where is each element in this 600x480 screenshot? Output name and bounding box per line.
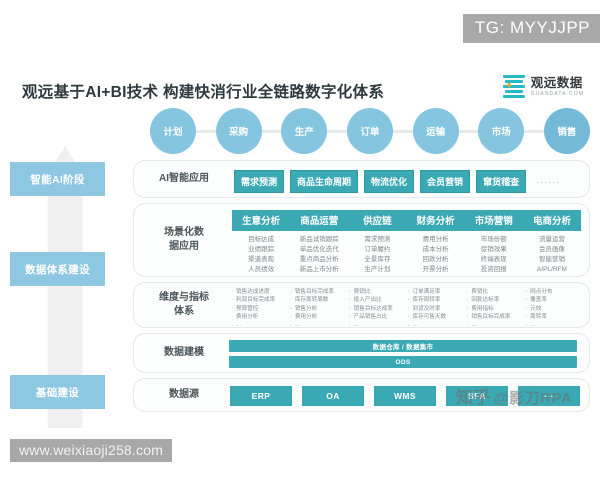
list-item: 库存可售天数 (406, 313, 465, 321)
list-item: 开票分析 (407, 265, 465, 275)
page-title: 观远基于AI+BI技术 构建快消行业全链路数字化体系 (22, 80, 384, 102)
ai-tag-demand-forecast[interactable]: 需求预测 (234, 170, 284, 193)
list-item: 新品上市分析 (290, 265, 348, 275)
panel-metrics-system: 维度与指标 体系 销售达成进度 利润目标完成率 预算管控 费用分析 ··· 销售… (133, 282, 590, 328)
scenario-head-supplychain[interactable]: 供应链 (348, 210, 406, 231)
list-item: 需求预测 (348, 235, 406, 245)
infographic-slide: TG: MYYJJPP 观远基于AI+BI技术 构建快消行业全链路数字化体系 观… (0, 0, 600, 480)
list-item: 回款分析 (407, 255, 465, 265)
scenario-column-list: 生意分析 目标达成 业绩跟踪 渠道表现 人员绩效 商品运营 新品试销跟踪 单品优… (232, 210, 581, 291)
stage-label-infrastructure[interactable]: 基础建设 (10, 375, 105, 409)
metrics-column-list: 销售达成进度 利润目标完成率 预算管控 费用分析 ··· 销售目标完成率 库存周… (230, 288, 583, 330)
panel-label-ai: AI智能应用 (148, 172, 220, 186)
panel-label-metrics: 维度与指标 体系 (148, 291, 220, 319)
scenario-head-marketing[interactable]: 市场营销 (465, 210, 523, 231)
list-item: 销售目标完成率 (465, 313, 524, 321)
scenario-items-supplychain: 需求预测 订单履约 全景库存 生产计划 (348, 235, 406, 275)
scenario-items-ecommerce: 流量运营 会员画像 智能营销 AIPL/RFM (523, 235, 581, 275)
list-item: 订单满足率 (406, 288, 465, 296)
stage-label-data-system[interactable]: 数据体系建设 (10, 252, 105, 286)
panel-label-scenario-line2: 据应用 (148, 240, 220, 254)
list-item: 周转率 (524, 313, 583, 321)
list-item: 费用分析 (230, 313, 289, 321)
list-item: 渠道表现 (232, 255, 290, 265)
panel-label-source: 数据源 (148, 388, 220, 402)
modeling-bar-warehouse[interactable]: 数据仓库 / 数据集市 (229, 340, 577, 352)
scenario-column-finance: 财务分析 费用分析 成本分析 回款分析 开票分析 (407, 210, 465, 291)
list-item: 单品优化迭代 (290, 245, 348, 255)
panel-label-metrics-line1: 维度与指标 (148, 291, 220, 305)
ai-tag-list: 需求预测 商品生命周期 物流优化 会员营销 窜货稽查 ······ (234, 170, 560, 193)
metrics-column-3: 费销比 投入产出比 销售目标达成率 产品销售占比 ··· (348, 288, 407, 330)
ai-tag-more-ellipsis: ······ (532, 177, 560, 187)
process-flow: 计划 采购 生产 订单 运输 市场 销售 (150, 108, 590, 154)
flow-node-transport[interactable]: 运输 (413, 108, 459, 154)
modeling-bar-list: 数据仓库 / 数据集市 ODS (229, 340, 577, 368)
scenario-items-business: 目标达成 业绩跟踪 渠道表现 人员绩效 (232, 235, 290, 275)
flow-node-market[interactable]: 市场 (478, 108, 524, 154)
list-item: 产品销售占比 (348, 313, 407, 321)
list-item: 覆盖率 (524, 296, 583, 304)
source-tag-oa[interactable]: OA (302, 386, 364, 406)
scenario-column-supplychain: 供应链 需求预测 订单履约 全景库存 生产计划 (348, 210, 406, 291)
list-item: 元效 (524, 305, 583, 313)
modeling-bar-ods[interactable]: ODS (229, 356, 577, 368)
watermark-website: www.weixiaoji258.com (10, 439, 172, 462)
ai-tag-product-lifecycle[interactable]: 商品生命周期 (290, 170, 358, 193)
source-tag-erp[interactable]: ERP (230, 386, 292, 406)
scenario-column-business: 生意分析 目标达成 业绩跟踪 渠道表现 人员绩效 (232, 210, 290, 291)
logo-name-cn: 观远数据 (531, 77, 584, 90)
flow-node-purchase[interactable]: 采购 (216, 108, 262, 154)
list-item: 利润目标完成率 (230, 296, 289, 304)
list-item: ··· (230, 322, 289, 330)
list-item: 重点商品分析 (290, 255, 348, 265)
scenario-items-finance: 费用分析 成本分析 回款分析 开票分析 (407, 235, 465, 275)
list-item: 库存周转周数 (289, 296, 348, 304)
logo-dot-icon (507, 83, 511, 87)
list-item: AIPL/RFM (523, 265, 581, 275)
list-item: 费用分析 (289, 313, 348, 321)
list-item: 到货及时率 (406, 305, 465, 313)
list-item: 投入产出比 (348, 296, 407, 304)
watermark-telegram: TG: MYYJJPP (463, 14, 600, 43)
list-item: 销售达成进度 (230, 288, 289, 296)
list-item: 费销比 (348, 288, 407, 296)
list-item: 新品试销跟踪 (290, 235, 348, 245)
list-item: ··· (465, 322, 524, 330)
list-item: 预算管控 (230, 305, 289, 313)
list-item: 智能营销 (523, 255, 581, 265)
list-item: ··· (289, 322, 348, 330)
watermark-zhihu-user: @影刀RPA (494, 390, 572, 407)
flow-node-plan[interactable]: 计划 (150, 108, 196, 154)
list-item: 回款达标率 (465, 296, 524, 304)
scenario-column-ecommerce: 电商分析 流量运营 会员画像 智能营销 AIPL/RFM (523, 210, 581, 291)
list-item: 业绩跟踪 (232, 245, 290, 255)
list-item: 费用分析 (407, 235, 465, 245)
watermark-zhihu: 知乎@影刀RPA (456, 383, 572, 408)
panel-data-modeling: 数据建模 数据仓库 / 数据集市 ODS (133, 333, 590, 373)
list-item: 订单履约 (348, 245, 406, 255)
ai-tag-logistics-optimization[interactable]: 物流优化 (364, 170, 414, 193)
metrics-column-2: 销售目标完成率 库存周转周数 销售分析 费用分析 ··· (289, 288, 348, 330)
scenario-column-product: 商品运营 新品试销跟踪 单品优化迭代 重点商品分析 新品上市分析 (290, 210, 348, 291)
list-item: 投资回报 (465, 265, 523, 275)
logo-name-en: GUANDATA.COM (531, 92, 584, 97)
stage-label-ai[interactable]: 智能AI阶段 (10, 162, 105, 196)
brand-logo: 观远数据 GUANDATA.COM (503, 74, 584, 100)
scenario-head-ecommerce[interactable]: 电商分析 (523, 210, 581, 231)
flow-node-production[interactable]: 生产 (281, 108, 327, 154)
panel-ai-applications: AI智能应用 需求预测 商品生命周期 物流优化 会员营销 窜货稽查 ······ (133, 160, 590, 198)
logo-text: 观远数据 GUANDATA.COM (531, 77, 584, 97)
flow-node-sales[interactable]: 销售 (544, 108, 590, 154)
list-item: 销售目标达成率 (348, 305, 407, 313)
list-item: ··· (348, 322, 407, 330)
scenario-head-finance[interactable]: 财务分析 (407, 210, 465, 231)
list-item: 费销比 (465, 288, 524, 296)
logo-bars-icon (503, 74, 525, 100)
list-item: 促销效果 (465, 245, 523, 255)
list-item: 全景库存 (348, 255, 406, 265)
metrics-column-5: 费销比 回款达标率 费用指标 销售目标完成率 ··· (465, 288, 524, 330)
list-item: ··· (524, 322, 583, 330)
watermark-zhihu-logo: 知乎 (456, 388, 491, 407)
scenario-items-marketing: 市场份额 促销效果 终端表现 投资回报 (465, 235, 523, 275)
flow-node-order[interactable]: 订单 (347, 108, 393, 154)
source-tag-wms[interactable]: WMS (374, 386, 436, 406)
list-item: 费用指标 (465, 305, 524, 313)
list-item: 目标达成 (232, 235, 290, 245)
list-item: 网点分布 (524, 288, 583, 296)
scenario-items-product: 新品试销跟踪 单品优化迭代 重点商品分析 新品上市分析 (290, 235, 348, 275)
scenario-head-business[interactable]: 生意分析 (232, 210, 290, 231)
scenario-head-product[interactable]: 商品运营 (290, 210, 348, 231)
scenario-column-marketing: 市场营销 市场份额 促销效果 终端表现 投资回报 (465, 210, 523, 291)
list-item: 销售分析 (289, 305, 348, 313)
list-item: 流量运营 (523, 235, 581, 245)
list-item: 生产计划 (348, 265, 406, 275)
panel-label-scenario-line1: 场景化数 (148, 226, 220, 240)
panel-label-modeling: 数据建模 (148, 346, 220, 360)
list-item: 人员绩效 (232, 265, 290, 275)
flow-node-list: 计划 采购 生产 订单 运输 市场 销售 (150, 108, 590, 154)
list-item: 市场份额 (465, 235, 523, 245)
ai-tag-diversion-audit[interactable]: 窜货稽查 (476, 170, 526, 193)
ai-tag-member-marketing[interactable]: 会员营销 (420, 170, 470, 193)
list-item: 库存周转率 (406, 296, 465, 304)
list-item: 终端表现 (465, 255, 523, 265)
panel-scenario-applications: 场景化数 据应用 生意分析 目标达成 业绩跟踪 渠道表现 人员绩效 商品运营 新… (133, 203, 590, 277)
list-item: 销售目标完成率 (289, 288, 348, 296)
list-item: ··· (406, 322, 465, 330)
metrics-column-1: 销售达成进度 利润目标完成率 预算管控 费用分析 ··· (230, 288, 289, 330)
list-item: 会员画像 (523, 245, 581, 255)
panel-label-scenario: 场景化数 据应用 (148, 226, 220, 254)
metrics-column-4: 订单满足率 库存周转率 到货及时率 库存可售天数 ··· (406, 288, 465, 330)
metrics-column-6: 网点分布 覆盖率 元效 周转率 ··· (524, 288, 583, 330)
list-item: 成本分析 (407, 245, 465, 255)
panel-label-metrics-line2: 体系 (148, 305, 220, 319)
